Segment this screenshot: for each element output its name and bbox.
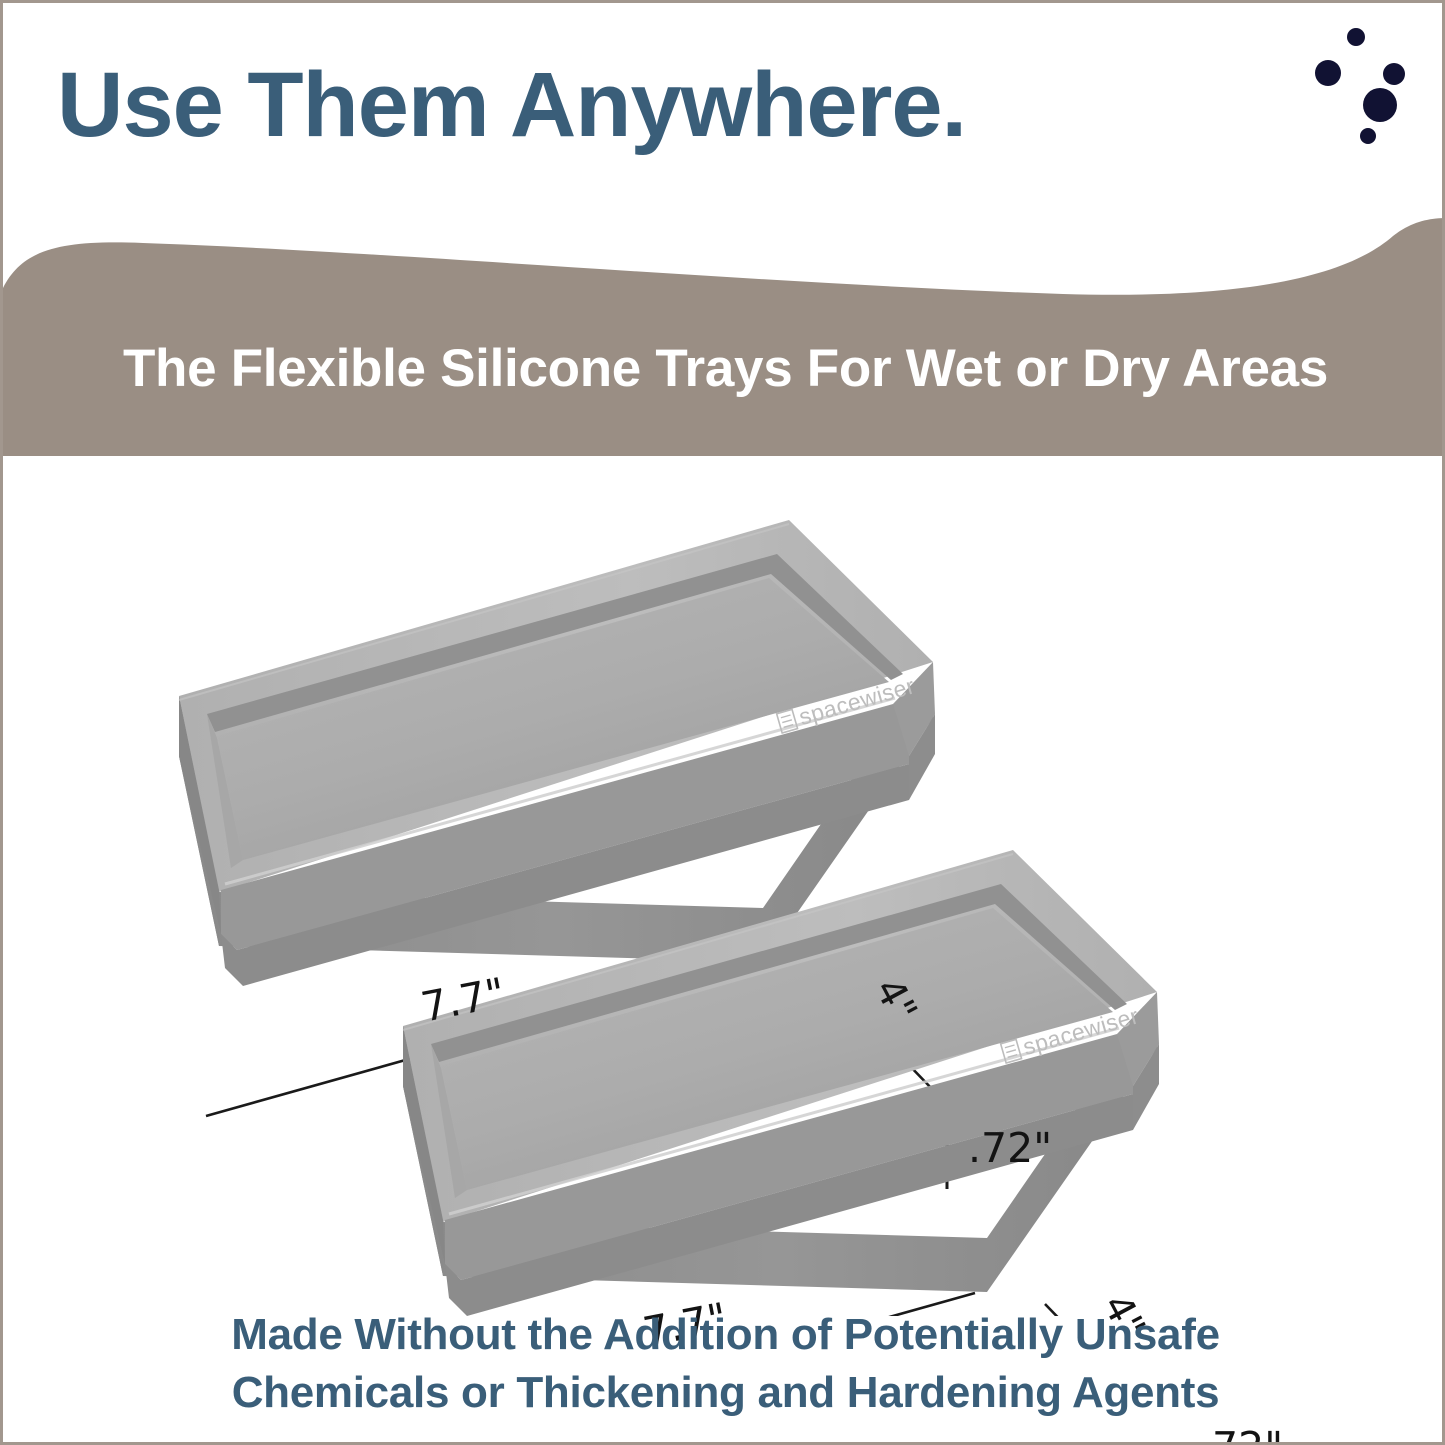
decor-dot (1363, 88, 1397, 122)
dimension-height-bottom: .72" (1199, 1423, 1283, 1445)
subtitle-banner: The Flexible Silicone Trays For Wet or D… (3, 218, 1445, 456)
dimension-height-top: .72" (968, 1124, 1052, 1172)
dot-cluster-decoration (1313, 23, 1443, 168)
footer-line-1: Made Without the Addition of Potentially… (3, 1306, 1445, 1364)
decor-dot (1315, 60, 1341, 86)
decor-dot (1347, 28, 1365, 46)
trays-drawing: spacewiser (3, 456, 1445, 1316)
page-title: Use Them Anywhere. (57, 59, 966, 151)
footer-claim: Made Without the Addition of Potentially… (3, 1306, 1445, 1422)
banner-subtitle: The Flexible Silicone Trays For Wet or D… (3, 218, 1445, 456)
decor-dot (1383, 63, 1405, 85)
footer-line-2: Chemicals or Thickening and Hardening Ag… (3, 1364, 1445, 1422)
infographic-page: Use Them Anywhere. The Flexible Silicone… (0, 0, 1445, 1445)
decor-dot (1360, 128, 1376, 144)
product-illustration: spacewiser (3, 456, 1445, 1316)
